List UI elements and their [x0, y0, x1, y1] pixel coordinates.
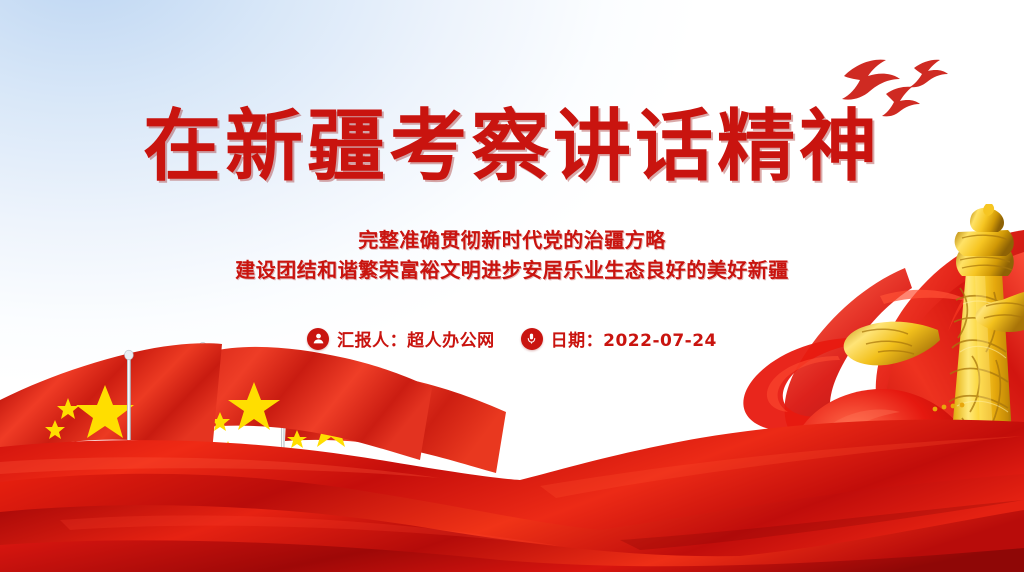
- meta-row: 汇报人：超人办公网 日期：2022-07-24: [0, 326, 1024, 351]
- presenter-item: 汇报人：超人办公网: [307, 326, 495, 351]
- presenter-label: 汇报人：超人办公网: [337, 326, 495, 351]
- date-item: 日期：2022-07-24: [521, 326, 717, 351]
- microphone-icon: [521, 328, 543, 350]
- subtitle-line-2: 建设团结和谐繁荣富裕文明进步安居乐业生态良好的美好新疆: [0, 258, 1024, 282]
- slide-canvas: 在新疆考察讲话精神 完整准确贯彻新时代党的治疆方略 建设团结和谐繁荣富裕文明进步…: [0, 0, 1024, 572]
- page-title: 在新疆考察讲话精神: [0, 108, 1024, 186]
- subtitle-line-1: 完整准确贯彻新时代党的治疆方略: [0, 228, 1024, 252]
- person-icon: [307, 328, 329, 350]
- date-label: 日期：2022-07-24: [551, 326, 717, 351]
